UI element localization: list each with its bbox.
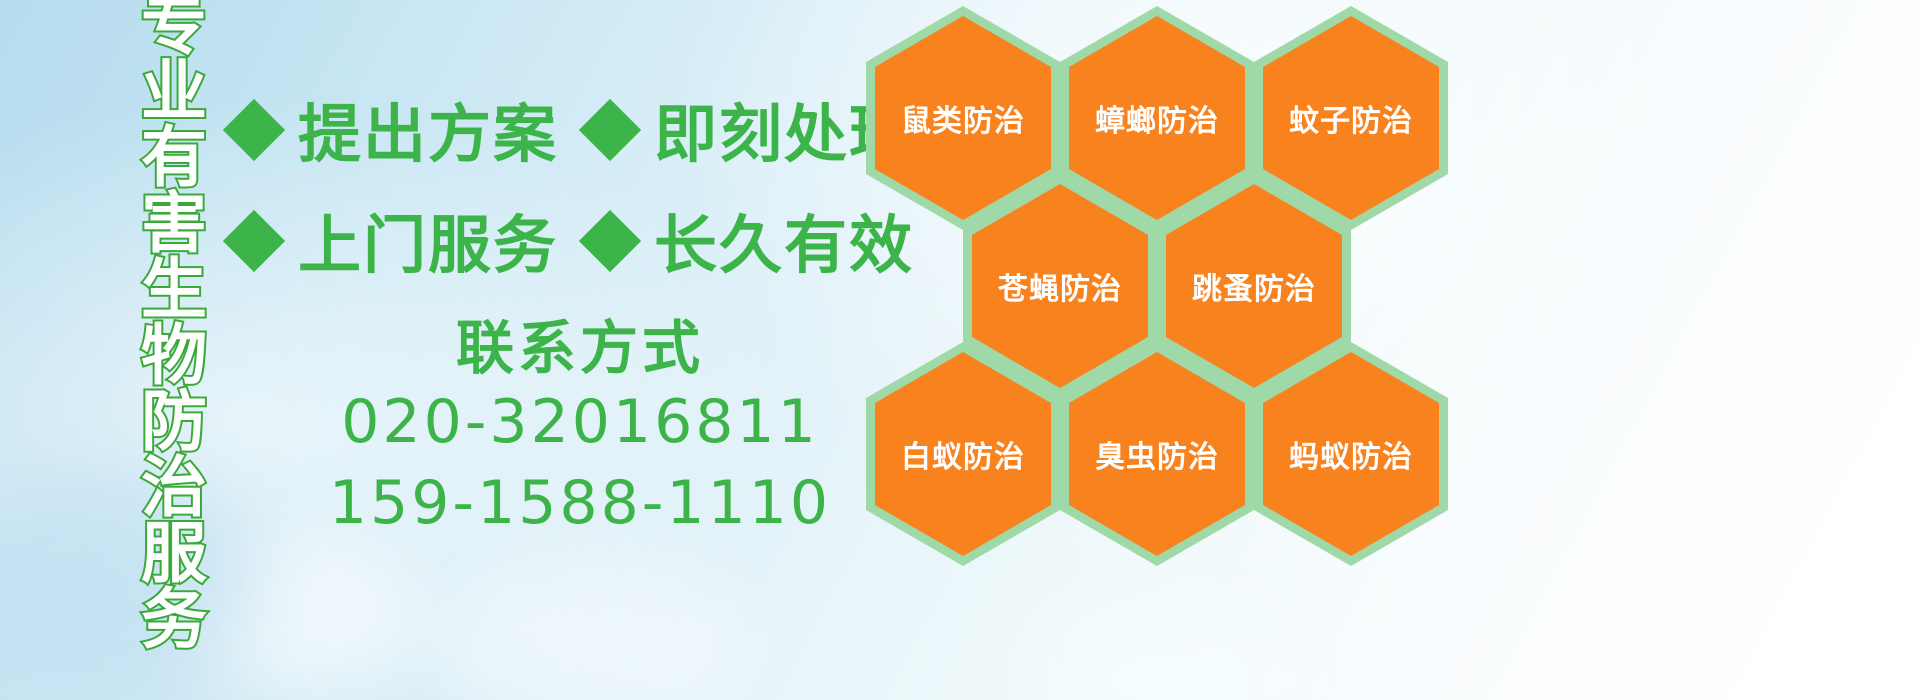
contact-title: 联系方式 [300,315,860,382]
pest-control-banner: 专业有害生物防治服务 提出方案 即刻处理 上门服务 长久有效 联系方式 020-… [0,0,1920,700]
diamond-icon [579,209,641,271]
service-honeycomb: 鼠类防治 蟑螂防治 蚊子防治 苍蝇防治 跳蚤防治 白蚁防 [858,0,1458,700]
service-label: 臭虫防治 [1095,432,1219,476]
feature-row-1: 提出方案 即刻处理 [232,84,944,175]
diamond-icon [223,209,285,271]
hex-inner: 鼠类防治 [875,16,1051,220]
feature-label: 提出方案 [298,84,558,175]
service-label: 苍蝇防治 [998,264,1122,308]
feature-label: 上门服务 [298,195,558,286]
service-label: 蟑螂防治 [1095,96,1219,140]
feature-item: 上门服务 [232,195,588,286]
background-blob [430,560,750,700]
diamond-icon [579,98,641,160]
service-label: 鼠类防治 [901,96,1025,140]
hex-inner: 苍蝇防治 [972,184,1148,388]
contact-block: 联系方式 020-32016811 159-1588-1110 [300,315,860,544]
service-label: 蚂蚁防治 [1289,432,1413,476]
diamond-icon [223,98,285,160]
feature-item: 提出方案 [232,84,588,175]
hex-inner: 跳蚤防治 [1166,184,1342,388]
service-label: 白蚁防治 [901,432,1025,476]
vertical-title: 专业有害生物防治服务 [104,0,200,650]
hex-inner: 蟑螂防治 [1069,16,1245,220]
background-blob [180,540,420,690]
service-label: 蚊子防治 [1289,96,1413,140]
phone-number-primary[interactable]: 020-32016811 [300,382,860,463]
phone-number-secondary[interactable]: 159-1588-1110 [300,463,860,544]
hex-inner: 蚊子防治 [1263,16,1439,220]
service-label: 跳蚤防治 [1192,264,1316,308]
hex-inner: 臭虫防治 [1069,352,1245,556]
hex-inner: 蚂蚁防治 [1263,352,1439,556]
hex-inner: 白蚁防治 [875,352,1051,556]
feature-row-2: 上门服务 长久有效 [232,195,944,286]
